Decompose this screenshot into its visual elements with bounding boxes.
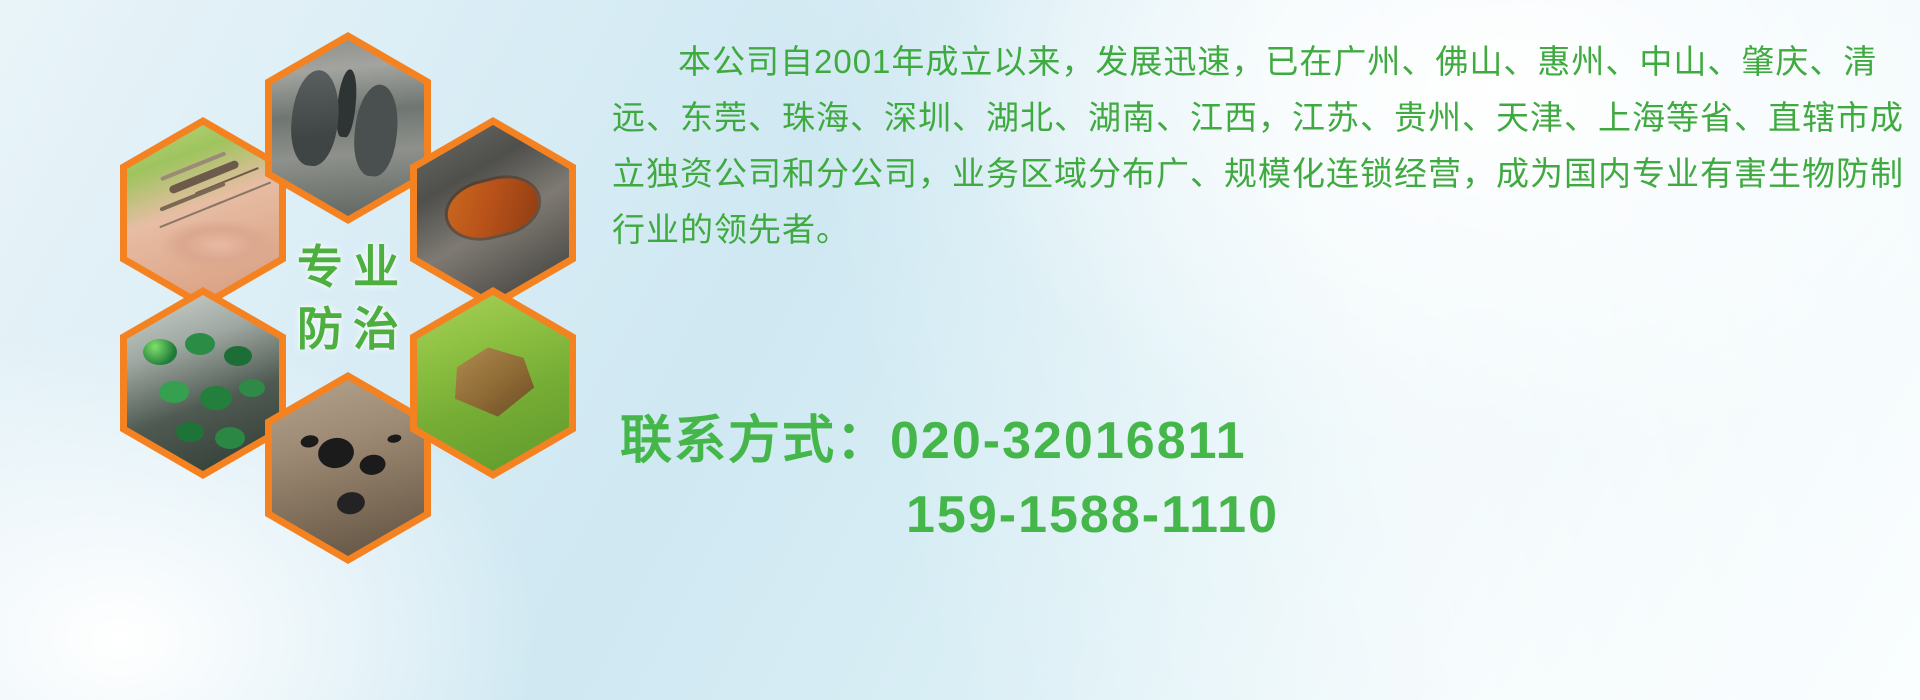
hex-inner-mosquito bbox=[127, 125, 279, 301]
rat-photo bbox=[272, 40, 424, 216]
company-copy-block: 本公司自2001年成立以来，发展迅速，已在广州、佛山、惠州、中山、肇庆、清远、东… bbox=[612, 34, 1912, 258]
flies-photo bbox=[127, 295, 279, 471]
ant-photo bbox=[272, 380, 424, 556]
hex-tile-cockroach bbox=[410, 117, 576, 309]
hex-inner-stinkbug bbox=[417, 295, 569, 471]
hex-tile-flies bbox=[120, 287, 286, 479]
hex-inner-flies bbox=[127, 295, 279, 471]
hex-tile-ant bbox=[265, 372, 431, 564]
hex-tile-rat bbox=[265, 32, 431, 224]
hex-tile-mosquito bbox=[120, 117, 286, 309]
hexagon-image-cluster: 专业 防治 bbox=[90, 10, 590, 555]
cockroach-photo bbox=[417, 125, 569, 301]
hex-inner-ant bbox=[272, 380, 424, 556]
hex-inner-cockroach bbox=[417, 125, 569, 301]
phone-secondary[interactable]: 159-1588-1110 bbox=[906, 486, 1279, 544]
mosquito-photo bbox=[127, 125, 279, 301]
promo-banner: 专业 防治 本公司自2001年成立以来，发展迅速，已在广州、佛山、惠州、中山、肇… bbox=[0, 0, 1920, 700]
contact-secondary-line: 159-1588-1110 bbox=[620, 478, 1910, 552]
company-intro-paragraph: 本公司自2001年成立以来，发展迅速，已在广州、佛山、惠州、中山、肇庆、清远、东… bbox=[612, 34, 1912, 258]
hex-inner-rat bbox=[272, 40, 424, 216]
contact-block: 联系方式：020-32016811 159-1588-1110 bbox=[620, 404, 1910, 552]
contact-primary-line: 联系方式：020-32016811 bbox=[620, 404, 1910, 478]
phone-primary[interactable]: 020-32016811 bbox=[890, 412, 1247, 470]
slogan-line-1: 专业 bbox=[287, 244, 409, 290]
stinkbug-photo bbox=[417, 295, 569, 471]
hex-tile-stinkbug bbox=[410, 287, 576, 479]
slogan-line-2: 防治 bbox=[287, 306, 409, 352]
contact-label: 联系方式： bbox=[620, 412, 890, 470]
hex-center-slogan: 专业 防治 bbox=[265, 202, 431, 394]
